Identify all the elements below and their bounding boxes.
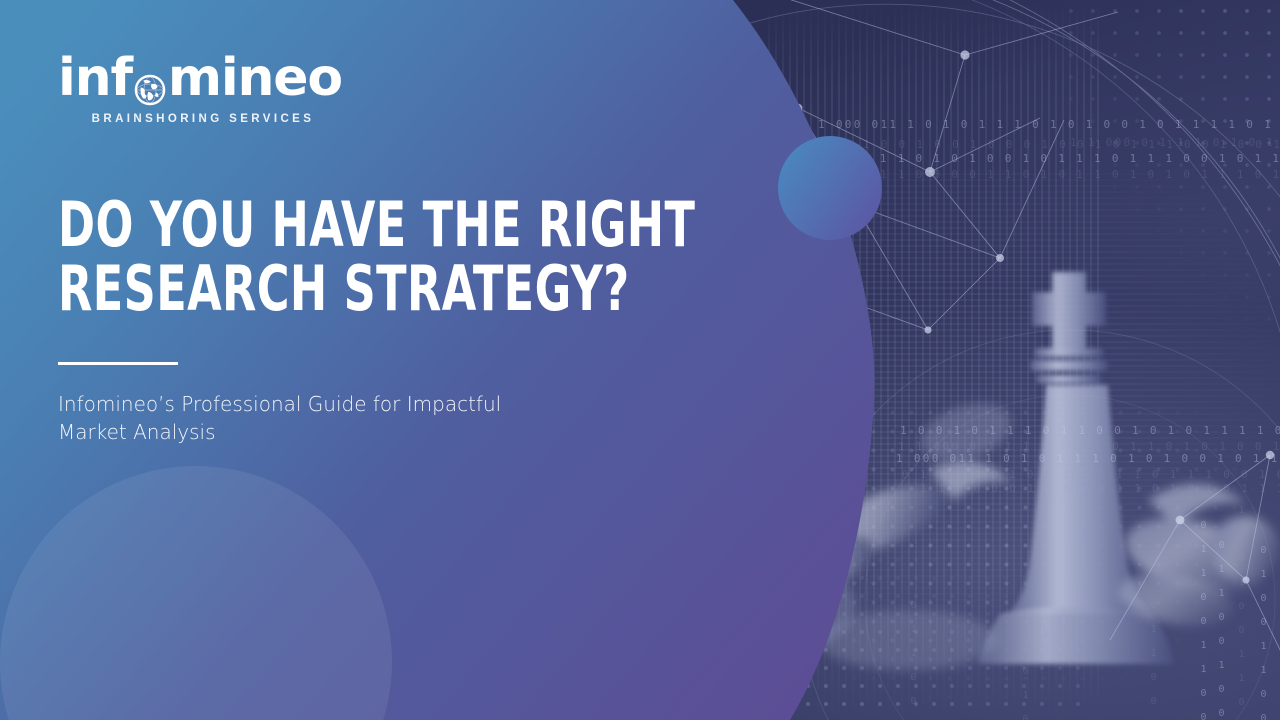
cover-slide: 1 000 011 1 0 1 0 1 1 1 0 1 0 1 0 0 1 0 … <box>0 0 1280 720</box>
logo-tagline: BRAINSHORING SERVICES <box>58 113 348 125</box>
gradient-accent-circle <box>778 136 882 240</box>
globe-icon <box>133 64 167 98</box>
page-title: Do You Have The Right Research Strategy? <box>58 193 538 321</box>
logo-text-part1: inf <box>58 52 132 104</box>
subtitle: Infomineo’s Professional Guide for Impac… <box>58 390 528 447</box>
headline-line-1: Do You Have The Right <box>58 193 538 257</box>
logo-text-part2: mineo <box>168 52 342 104</box>
slide-content: inf <box>0 0 700 720</box>
brand-logo[interactable]: inf <box>58 52 348 125</box>
logo-wordmark: inf <box>58 52 348 104</box>
headline-line-2: Research Strategy? <box>58 257 538 321</box>
divider-rule <box>58 362 178 365</box>
